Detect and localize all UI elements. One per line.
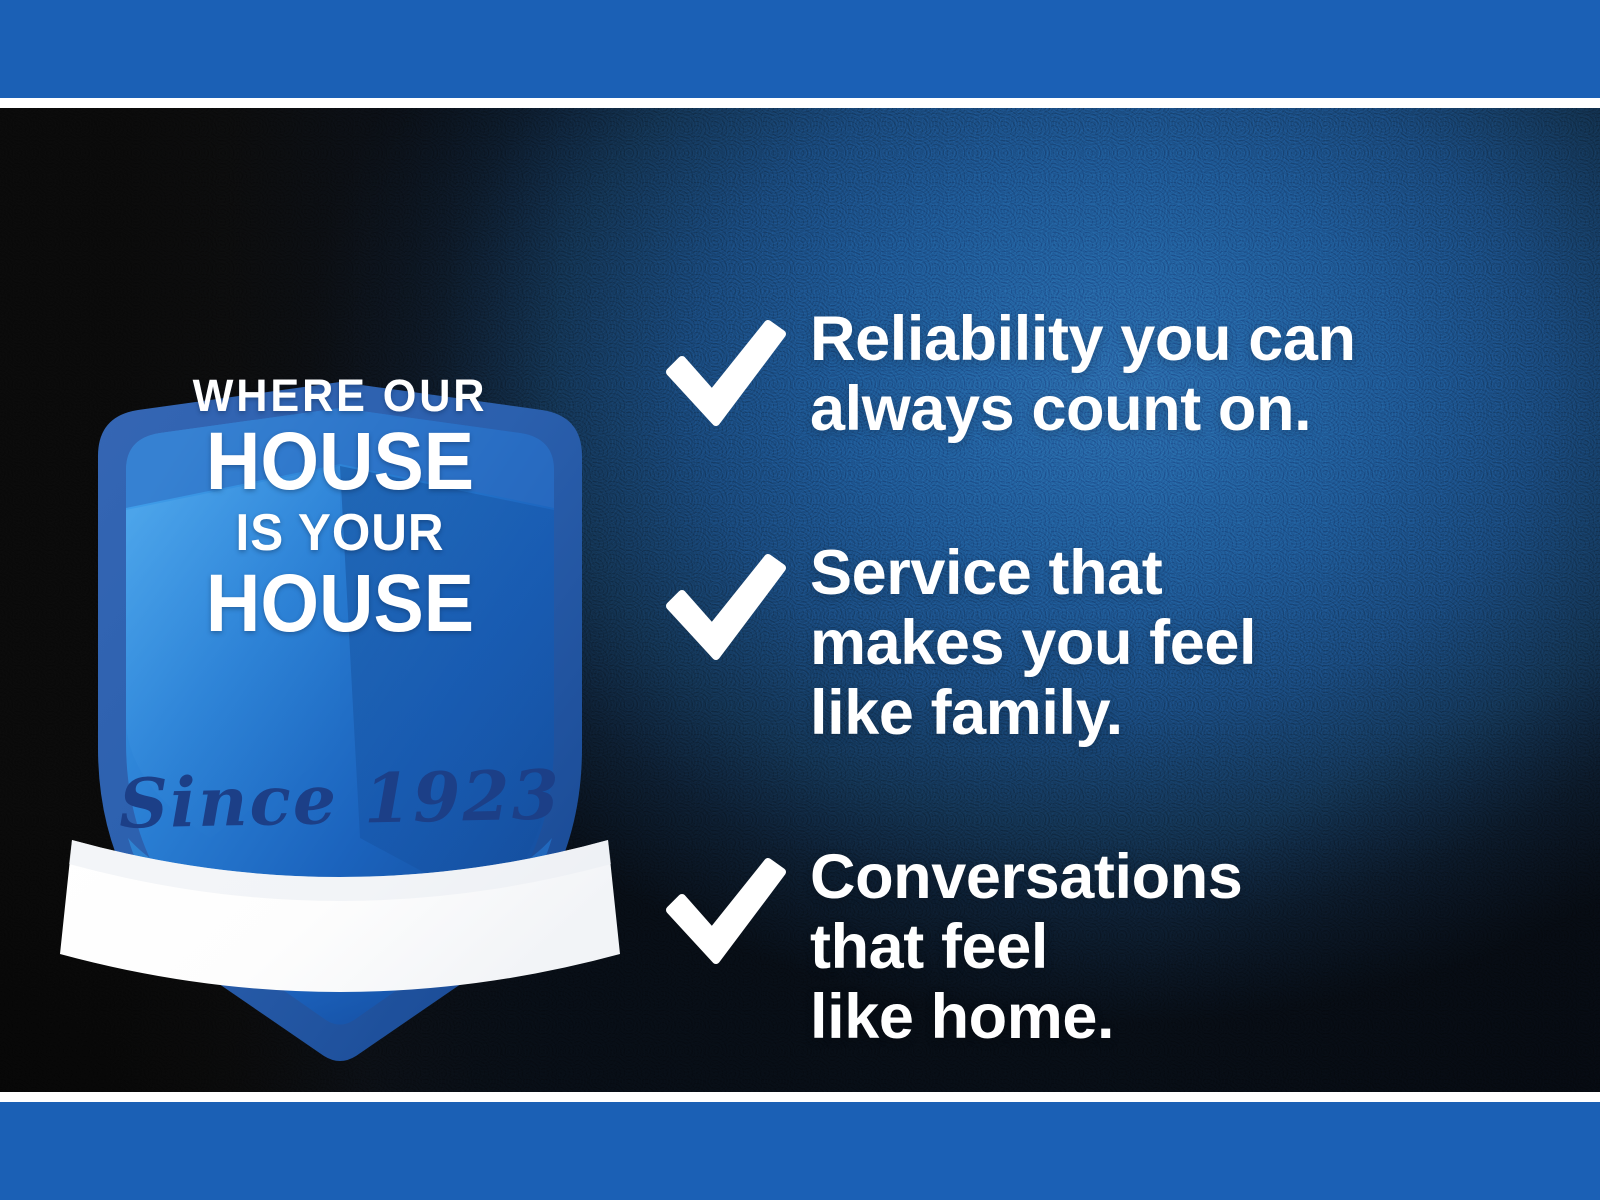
benefit-text-2: Service that makes you feel like family. (810, 538, 1256, 748)
shield-icon (60, 278, 620, 1068)
check-icon (660, 854, 788, 972)
benefit-text-3: Conversations that feel like home. (810, 842, 1242, 1052)
shield-graphic (60, 278, 620, 1068)
benefits-list: Reliability you can always count on. Ser… (660, 304, 1560, 1052)
list-item: Conversations that feel like home. (660, 842, 1560, 1052)
poster-stage: WHERE OUR HOUSE IS YOUR HOUSE Since 1923… (0, 108, 1600, 1092)
promo-poster: WHERE OUR HOUSE IS YOUR HOUSE Since 1923… (0, 0, 1600, 1200)
check-icon (660, 550, 788, 668)
benefit-text-1: Reliability you can always count on. (810, 304, 1356, 444)
list-item: Service that makes you feel like family. (660, 538, 1560, 748)
list-item: Reliability you can always count on. (660, 304, 1560, 444)
shield-shadow-facet (340, 466, 554, 908)
check-icon (660, 316, 788, 434)
bottom-blue-bar (0, 1102, 1600, 1200)
brand-badge: WHERE OUR HOUSE IS YOUR HOUSE Since 1923 (60, 278, 620, 1068)
top-blue-bar (0, 0, 1600, 98)
